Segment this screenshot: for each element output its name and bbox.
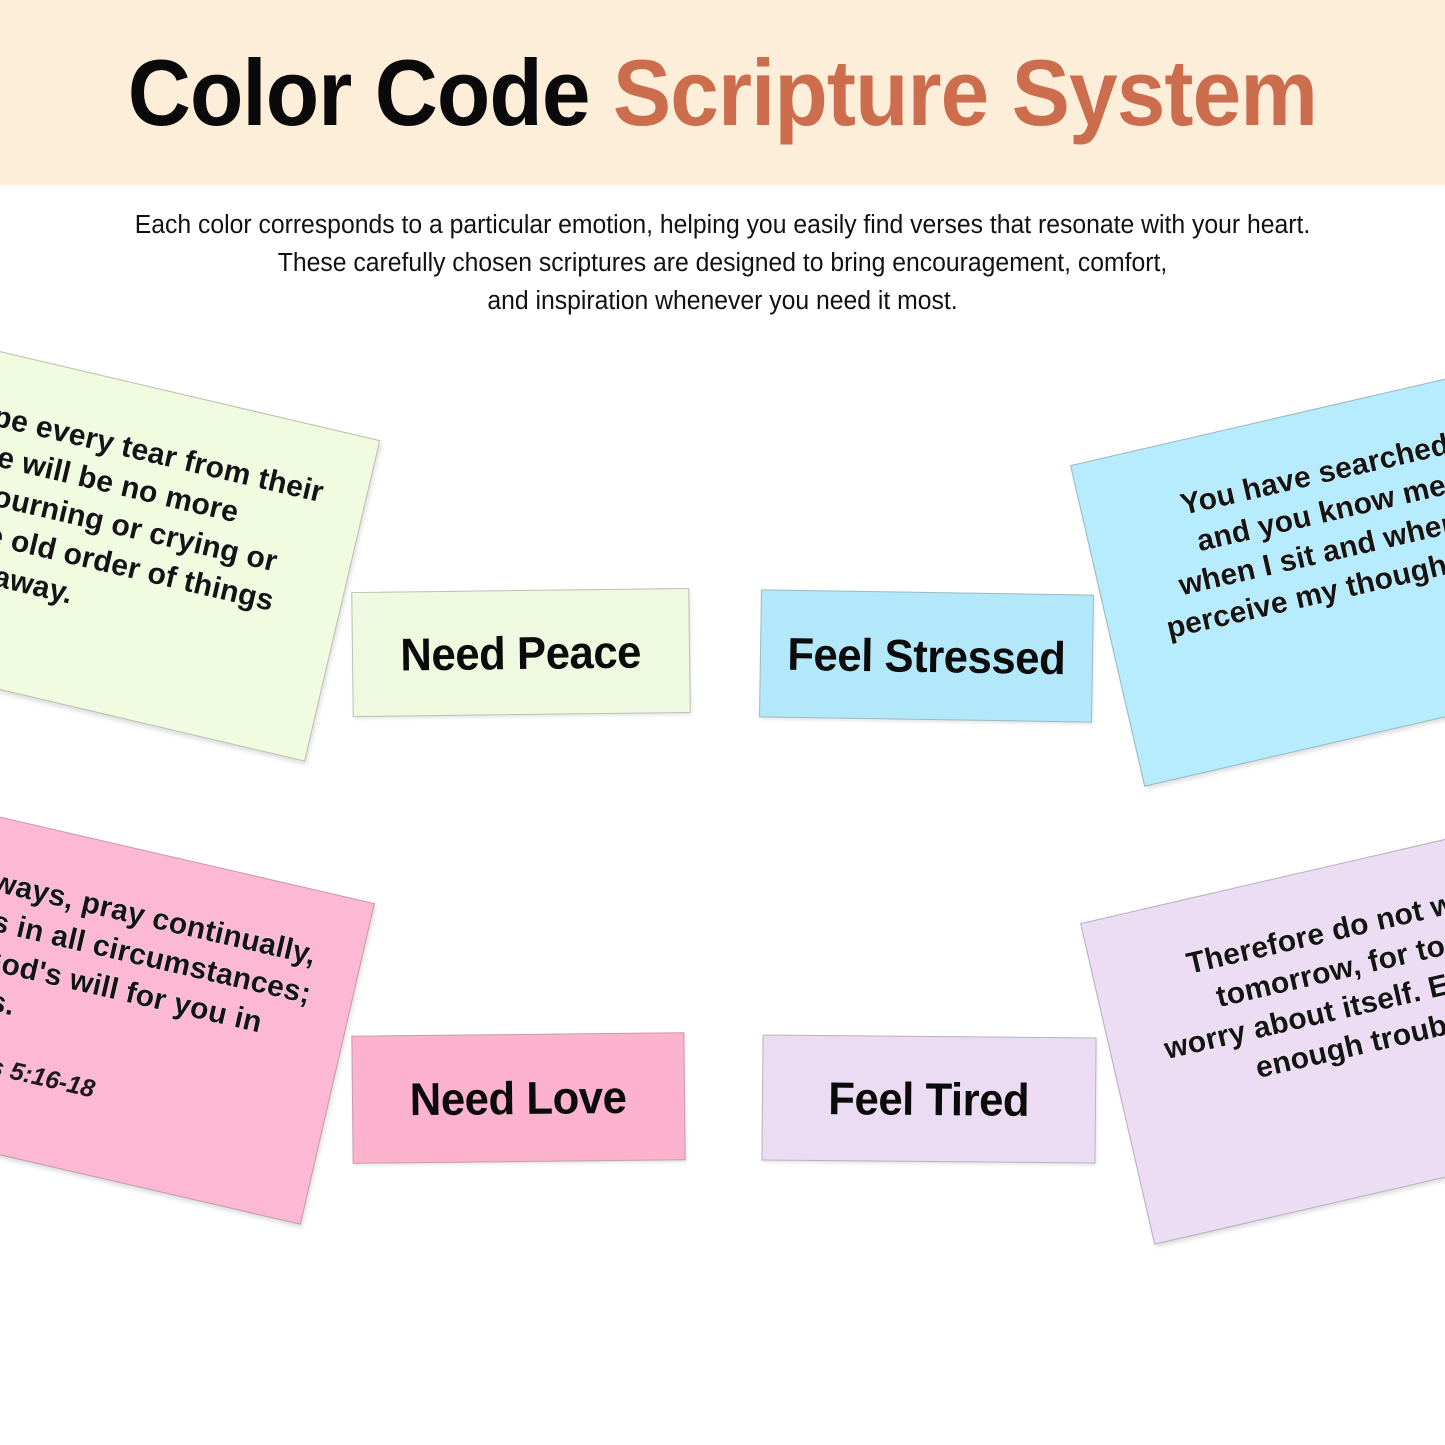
verse-card-feel-stressed[interactable]: You have searched me, Lord, and you know… — [1070, 339, 1445, 787]
verse-card-text: Rejoice always, pray continually, give t… — [0, 830, 325, 1090]
page-title-accent: Scripture System — [613, 40, 1317, 145]
verse-card-need-love[interactable]: Rejoice always, pray continually, give t… — [0, 777, 375, 1225]
emotion-chip-label: Need Peace — [400, 624, 641, 681]
verse-card-text: He will wipe every tear from their eyes.… — [0, 366, 330, 665]
emotion-chip-need-love[interactable]: Need Love — [351, 1032, 685, 1163]
page-title-primary: Color Code — [128, 40, 613, 145]
verse-card-text: You have searched me, Lord, and you know… — [1120, 392, 1445, 652]
emotion-chip-label: Need Love — [410, 1070, 627, 1126]
subtitle-line-2: These carefully chosen scriptures are de… — [22, 244, 1424, 282]
emotion-chip-feel-tired[interactable]: Feel Tired — [761, 1035, 1096, 1164]
verse-card-text: Therefore do not worry about tomorrow, f… — [1130, 850, 1445, 1110]
verse-card-need-peace[interactable]: He will wipe every tear from their eyes.… — [0, 312, 380, 761]
subtitle-line-3: and inspiration whenever you need it mos… — [22, 282, 1424, 320]
emotion-chip-label: Feel Stressed — [787, 627, 1066, 685]
emotion-chip-need-peace[interactable]: Need Peace — [351, 588, 691, 717]
emotion-chip-feel-stressed[interactable]: Feel Stressed — [759, 589, 1094, 722]
subtitle-block: Each color corresponds to a particular e… — [22, 206, 1424, 320]
verse-card-feel-tired[interactable]: Therefore do not worry about tomorrow, f… — [1080, 797, 1445, 1245]
header-band: Color Code Scripture System — [0, 0, 1445, 185]
emotion-chip-label: Feel Tired — [828, 1071, 1029, 1127]
page-title: Color Code Scripture System — [128, 46, 1317, 140]
subtitle-line-1: Each color corresponds to a particular e… — [22, 206, 1424, 244]
